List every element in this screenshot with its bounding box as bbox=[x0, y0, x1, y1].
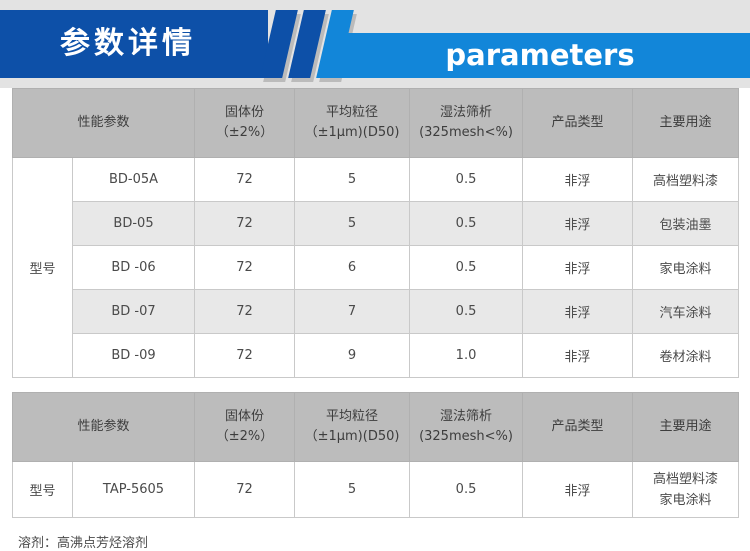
spec-table-secondary: 性能参数 固体份 （±2%） 平均粒径 （±1μm)(D50) 湿法筛析 (32… bbox=[12, 392, 739, 518]
cell-product-type: 非浮 bbox=[523, 246, 633, 290]
cell-particle-size: 7 bbox=[295, 290, 410, 334]
page-banner: 参数详情 parameters bbox=[0, 0, 750, 88]
cell-main-use: 家电涂料 bbox=[633, 246, 739, 290]
header-size-line2: （±1μm)(D50) bbox=[296, 123, 408, 143]
row-group-model-label: 型号 bbox=[13, 158, 73, 378]
header-solid-line2: （±2%） bbox=[196, 427, 293, 447]
cell-wet-sieve: 0.5 bbox=[410, 290, 523, 334]
cell-main-use: 汽车涂料 bbox=[633, 290, 739, 334]
table-row: 型号 TAP-5605 72 5 0.5 非浮 高档塑料漆 家电涂料 bbox=[13, 462, 739, 518]
cell-product-type: 非浮 bbox=[523, 202, 633, 246]
table-2-wrapper: 性能参数 固体份 （±2%） 平均粒径 （±1μm)(D50) 湿法筛析 (32… bbox=[0, 392, 750, 518]
cell-wet-sieve: 0.5 bbox=[410, 202, 523, 246]
cell-model-name: TAP-5605 bbox=[73, 462, 195, 518]
cell-particle-size: 5 bbox=[295, 202, 410, 246]
header-size-line1: 平均粒径 bbox=[296, 407, 408, 427]
column-header-product-type: 产品类型 bbox=[523, 89, 633, 158]
header-solid-line2: （±2%） bbox=[196, 123, 293, 143]
header-sieve-line1: 湿法筛析 bbox=[411, 407, 521, 427]
table-gap bbox=[0, 378, 750, 392]
cell-main-use: 高档塑料漆 家电涂料 bbox=[633, 462, 739, 518]
table-row: BD -07 72 7 0.5 非浮 汽车涂料 bbox=[13, 290, 739, 334]
table-2-body: 型号 TAP-5605 72 5 0.5 非浮 高档塑料漆 家电涂料 bbox=[13, 462, 739, 518]
cell-model-name: BD -06 bbox=[73, 246, 195, 290]
column-header-wet-sieve: 湿法筛析 (325mesh<%) bbox=[410, 89, 523, 158]
cell-main-use-line2: 家电涂料 bbox=[634, 490, 737, 511]
column-header-main-use: 主要用途 bbox=[633, 89, 739, 158]
header-sieve-line1: 湿法筛析 bbox=[411, 103, 521, 123]
column-header-main-use: 主要用途 bbox=[633, 393, 739, 462]
spec-table-primary: 性能参数 固体份 （±2%） 平均粒径 （±1μm)(D50) 湿法筛析 (32… bbox=[12, 88, 739, 378]
cell-model-name: BD-05A bbox=[73, 158, 195, 202]
cell-wet-sieve: 0.5 bbox=[410, 462, 523, 518]
table-1-wrapper: 性能参数 固体份 （±2%） 平均粒径 （±1μm)(D50) 湿法筛析 (32… bbox=[0, 88, 750, 378]
cell-particle-size: 5 bbox=[295, 158, 410, 202]
header-solid-line1: 固体份 bbox=[196, 407, 293, 427]
header-size-line2: （±1μm)(D50) bbox=[296, 427, 408, 447]
header-size-line1: 平均粒径 bbox=[296, 103, 408, 123]
column-header-particle-size: 平均粒径 （±1μm)(D50) bbox=[295, 393, 410, 462]
header-sieve-line2: (325mesh<%) bbox=[411, 123, 521, 143]
cell-particle-size: 5 bbox=[295, 462, 410, 518]
cell-product-type: 非浮 bbox=[523, 334, 633, 378]
table-header-row: 性能参数 固体份 （±2%） 平均粒径 （±1μm)(D50) 湿法筛析 (32… bbox=[13, 393, 739, 462]
solvent-note: 溶剂：高沸点芳烃溶剂 bbox=[0, 518, 750, 551]
header-sieve-line2: (325mesh<%) bbox=[411, 427, 521, 447]
cell-wet-sieve: 0.5 bbox=[410, 246, 523, 290]
cell-solid-content: 72 bbox=[195, 246, 295, 290]
cell-particle-size: 9 bbox=[295, 334, 410, 378]
table-row: 型号 BD-05A 72 5 0.5 非浮 高档塑料漆 bbox=[13, 158, 739, 202]
row-group-model-label: 型号 bbox=[13, 462, 73, 518]
table-header-row: 性能参数 固体份 （±2%） 平均粒径 （±1μm)(D50) 湿法筛析 (32… bbox=[13, 89, 739, 158]
table-row: BD -06 72 6 0.5 非浮 家电涂料 bbox=[13, 246, 739, 290]
cell-product-type: 非浮 bbox=[523, 158, 633, 202]
cell-model-name: BD -07 bbox=[73, 290, 195, 334]
cell-solid-content: 72 bbox=[195, 290, 295, 334]
cell-main-use: 卷材涂料 bbox=[633, 334, 739, 378]
cell-product-type: 非浮 bbox=[523, 290, 633, 334]
cell-main-use-line1: 高档塑料漆 bbox=[634, 469, 737, 490]
table-row: BD-05 72 5 0.5 非浮 包装油墨 bbox=[13, 202, 739, 246]
column-header-product-type: 产品类型 bbox=[523, 393, 633, 462]
cell-solid-content: 72 bbox=[195, 158, 295, 202]
cell-particle-size: 6 bbox=[295, 246, 410, 290]
cell-solid-content: 72 bbox=[195, 334, 295, 378]
banner-title: 参数详情 bbox=[60, 10, 270, 78]
column-header-performance: 性能参数 bbox=[13, 393, 195, 462]
column-header-solid-content: 固体份 （±2%） bbox=[195, 89, 295, 158]
cell-main-use: 包装油墨 bbox=[633, 202, 739, 246]
table-row: BD -09 72 9 1.0 非浮 卷材涂料 bbox=[13, 334, 739, 378]
cell-product-type: 非浮 bbox=[523, 462, 633, 518]
banner-subtitle: parameters bbox=[330, 33, 750, 78]
cell-solid-content: 72 bbox=[195, 202, 295, 246]
cell-wet-sieve: 0.5 bbox=[410, 158, 523, 202]
table-1-body: 型号 BD-05A 72 5 0.5 非浮 高档塑料漆 BD-05 72 5 0… bbox=[13, 158, 739, 378]
column-header-particle-size: 平均粒径 （±1μm)(D50) bbox=[295, 89, 410, 158]
column-header-solid-content: 固体份 （±2%） bbox=[195, 393, 295, 462]
cell-model-name: BD-05 bbox=[73, 202, 195, 246]
cell-model-name: BD -09 bbox=[73, 334, 195, 378]
header-solid-line1: 固体份 bbox=[196, 103, 293, 123]
cell-solid-content: 72 bbox=[195, 462, 295, 518]
cell-wet-sieve: 1.0 bbox=[410, 334, 523, 378]
column-header-wet-sieve: 湿法筛析 (325mesh<%) bbox=[410, 393, 523, 462]
cell-main-use: 高档塑料漆 bbox=[633, 158, 739, 202]
column-header-performance: 性能参数 bbox=[13, 89, 195, 158]
